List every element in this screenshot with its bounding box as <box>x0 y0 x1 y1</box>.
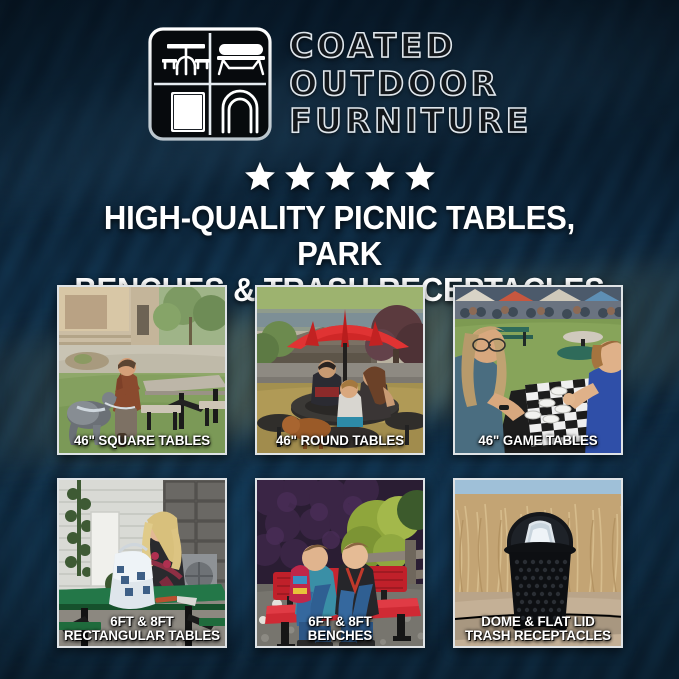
product-tile-trash-receptacles[interactable]: DOME & FLAT LID TRASH RECEPTACLES <box>453 478 623 648</box>
infographic-banner: COATED OUTDOOR FURNITURE HIGH-QUALITY PI… <box>0 0 679 679</box>
star-rating <box>0 160 679 192</box>
headline-line-1: HIGH-QUALITY PICNIC TABLES, PARK <box>58 200 621 272</box>
product-caption: 46" ROUND TABLES <box>261 433 419 448</box>
family-at-round-table-with-red-umbrella <box>257 287 423 453</box>
product-tile-round-tables[interactable]: 46" ROUND TABLES <box>255 285 425 455</box>
star-icon <box>244 160 276 192</box>
product-tile-square-tables[interactable]: 46" SQUARE TABLES <box>57 285 227 455</box>
people-playing-checkers-at-game-table <box>455 287 621 453</box>
star-icon <box>324 160 356 192</box>
star-icon <box>364 160 396 192</box>
woman-with-dog-at-square-picnic-table <box>59 287 225 453</box>
star-icon <box>404 160 436 192</box>
product-tile-rectangular-tables[interactable]: 6FT & 8FT RECTANGULAR TABLES <box>57 478 227 648</box>
brand-logo: COATED OUTDOOR FURNITURE <box>0 26 679 142</box>
wordmark-line-3: FURNITURE <box>289 103 532 140</box>
wordmark-line-1: COATED <box>289 28 532 65</box>
product-grid: 46" SQUARE TABLES <box>57 285 623 648</box>
product-caption: DOME & FLAT LID TRASH RECEPTACLES <box>459 614 617 643</box>
product-caption: 46" SQUARE TABLES <box>63 433 221 448</box>
coated-outdoor-furniture-grid-logo <box>147 26 273 142</box>
product-tile-benches[interactable]: 6FT & 8FT BENCHES <box>255 478 425 648</box>
brand-wordmark: COATED OUTDOOR FURNITURE <box>289 28 532 141</box>
star-icon <box>284 160 316 192</box>
product-caption: 6FT & 8FT RECTANGULAR TABLES <box>63 614 221 643</box>
wordmark-line-2: OUTDOOR <box>289 66 532 103</box>
trash-receptacle-icon <box>171 92 205 132</box>
product-caption: 46" GAME TABLES <box>459 433 617 448</box>
product-caption: 6FT & 8FT BENCHES <box>261 614 419 643</box>
product-tile-game-tables[interactable]: 46" GAME TABLES <box>453 285 623 455</box>
